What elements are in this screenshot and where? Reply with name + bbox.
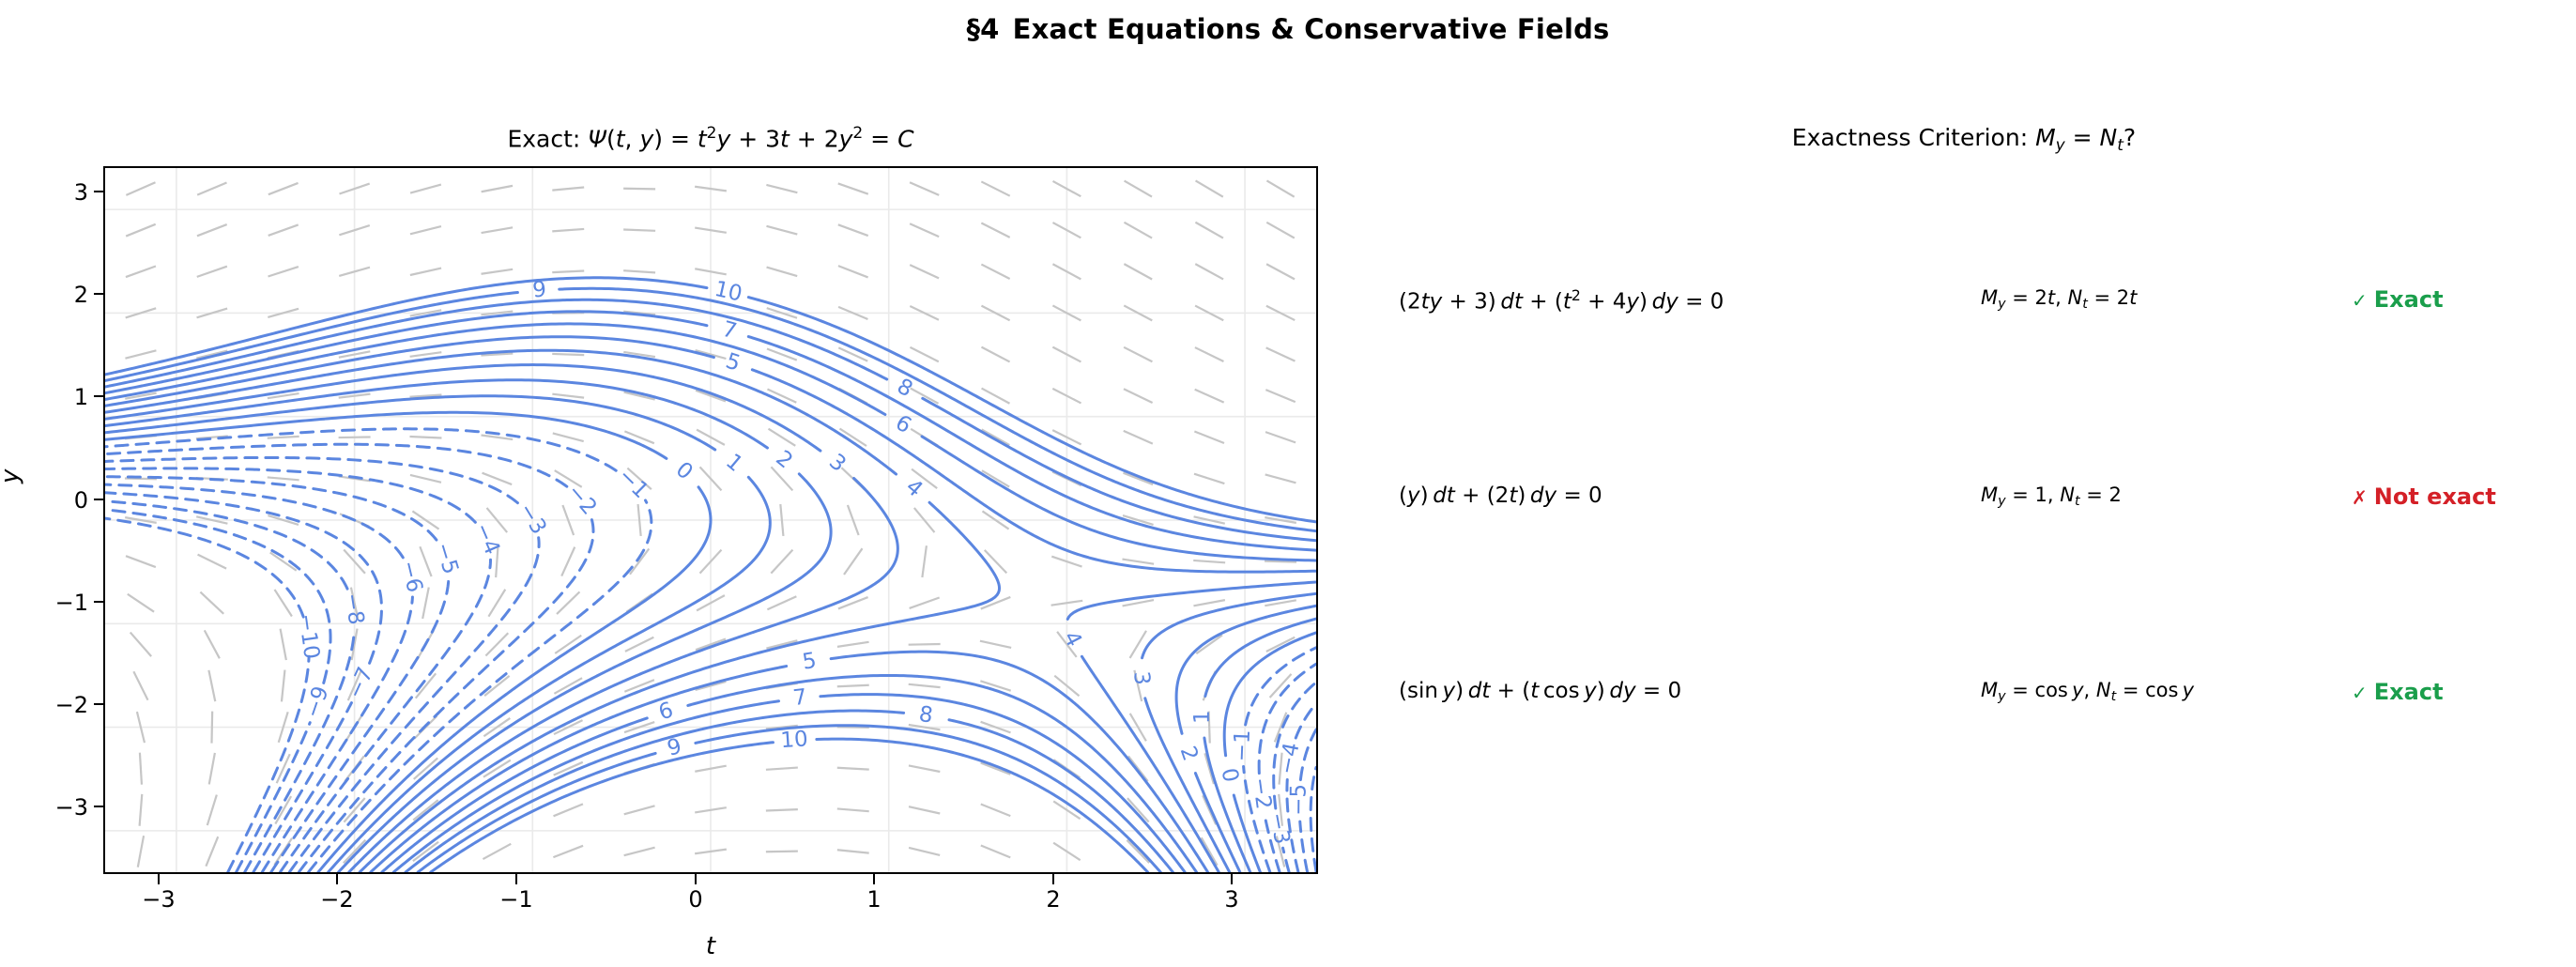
verdict-cell: ✓Exact bbox=[2352, 679, 2444, 705]
ytickmark-m3 bbox=[94, 806, 104, 807]
figure-canvas: §4Exact Equations & Conservative Fields … bbox=[0, 0, 2576, 967]
svg-text:−3: −3 bbox=[514, 499, 551, 538]
check-icon: ✓ bbox=[2352, 682, 2368, 704]
equation-cell: (2ty + 3) dt + (t2 + 4y) dy = 0 bbox=[1399, 286, 1724, 315]
xtick-m3: −3 bbox=[130, 886, 187, 913]
svg-text:7: 7 bbox=[791, 685, 807, 711]
svg-text:−8: −8 bbox=[339, 591, 368, 626]
xtickmark-m1 bbox=[515, 874, 517, 884]
svg-text:10: 10 bbox=[780, 727, 809, 753]
svg-text:−2: −2 bbox=[1248, 776, 1276, 811]
ytickmark-1 bbox=[94, 395, 104, 397]
contour-svg: −10−9−8−7−6−5−5−4−4−3−3−2−2−1−1001122334… bbox=[105, 168, 1316, 872]
criterion-cell: My = cos y, Nt = cos y bbox=[1981, 679, 2194, 704]
verdict-label: Exact bbox=[2374, 679, 2444, 705]
xtick-3: 3 bbox=[1204, 886, 1260, 913]
svg-text:1: 1 bbox=[721, 450, 747, 477]
xtick-0: 0 bbox=[667, 886, 724, 913]
y-axis-label: y bbox=[0, 469, 24, 483]
ytickmark-2 bbox=[94, 293, 104, 295]
xtickmark-m3 bbox=[158, 874, 160, 884]
verdict-label: Not exact bbox=[2374, 483, 2496, 510]
svg-text:−4: −4 bbox=[469, 519, 504, 558]
ytick-2: 2 bbox=[54, 282, 88, 308]
svg-text:8: 8 bbox=[893, 375, 916, 403]
ytickmark-m2 bbox=[94, 703, 104, 705]
xtickmark-m2 bbox=[336, 874, 338, 884]
verdict-cell: ✗Not exact bbox=[2352, 483, 2496, 510]
page-title: §4Exact Equations & Conservative Fields bbox=[0, 13, 2576, 45]
xtick-m1: −1 bbox=[488, 886, 544, 913]
svg-text:−5: −5 bbox=[1286, 784, 1311, 816]
ytickmark-m1 bbox=[94, 601, 104, 603]
equation-cell: (sin y) dt + (t cos y) dy = 0 bbox=[1399, 679, 1681, 703]
svg-text:4: 4 bbox=[1058, 627, 1086, 651]
svg-text:−2: −2 bbox=[562, 480, 602, 520]
svg-text:−1: −1 bbox=[613, 464, 652, 503]
svg-text:8: 8 bbox=[917, 702, 934, 729]
svg-text:9: 9 bbox=[531, 277, 547, 302]
svg-text:9: 9 bbox=[665, 734, 684, 761]
svg-text:−4: −4 bbox=[1275, 741, 1305, 776]
svg-text:6: 6 bbox=[656, 698, 677, 725]
xtick-2: 2 bbox=[1025, 886, 1081, 913]
svg-text:5: 5 bbox=[723, 349, 744, 376]
ytick-3: 3 bbox=[54, 179, 88, 206]
ytick-0: 0 bbox=[54, 487, 88, 514]
ytick-m2: −2 bbox=[41, 692, 88, 718]
check-icon: ✓ bbox=[2352, 289, 2368, 312]
ytickmark-0 bbox=[94, 499, 104, 500]
svg-text:−3: −3 bbox=[1265, 810, 1295, 846]
xtickmark-0 bbox=[695, 874, 697, 884]
section-title: Exact Equations & Conservative Fields bbox=[1013, 13, 1610, 45]
contour-plot-area: −10−9−8−7−6−5−5−4−4−3−3−2−2−1−1001122334… bbox=[103, 166, 1318, 874]
exactness-panel-title: Exactness Criterion: My = Nt? bbox=[1352, 124, 2576, 155]
svg-text:2: 2 bbox=[1175, 744, 1203, 764]
contour-labels: −10−9−8−7−6−5−5−4−4−3−3−2−2−1−1001122334… bbox=[293, 277, 1311, 846]
verdict-cell: ✓Exact bbox=[2352, 286, 2444, 313]
contour-plot-panel: Exact: Ψ(t, y) = t2y + 3t + 2y2 = C −10−… bbox=[0, 56, 1352, 967]
svg-text:7: 7 bbox=[720, 317, 740, 345]
svg-text:6: 6 bbox=[891, 410, 915, 438]
contour-plot-title: Exact: Ψ(t, y) = t2y + 3t + 2y2 = C bbox=[103, 124, 1318, 152]
equation-cell: (y) dt + (2t) dy = 0 bbox=[1399, 483, 1602, 508]
cross-icon: ✗ bbox=[2352, 486, 2368, 509]
xtickmark-1 bbox=[873, 874, 875, 884]
svg-text:3: 3 bbox=[1128, 670, 1154, 686]
svg-text:0: 0 bbox=[1216, 766, 1242, 785]
svg-text:−6: −6 bbox=[396, 559, 427, 595]
criterion-cell: My = 1, Nt = 2 bbox=[1981, 483, 2122, 509]
exactness-criterion-panel: Exactness Criterion: My = Nt? (2ty + 3) … bbox=[1352, 56, 2576, 967]
xtickmark-3 bbox=[1231, 874, 1233, 884]
x-axis-label: t bbox=[103, 932, 1318, 960]
svg-text:−5: −5 bbox=[430, 540, 463, 577]
svg-text:1: 1 bbox=[1190, 710, 1215, 724]
svg-text:0: 0 bbox=[671, 457, 698, 484]
svg-text:5: 5 bbox=[801, 649, 819, 675]
ytick-m1: −1 bbox=[41, 590, 88, 616]
criterion-cell: My = 2t, Nt = 2t bbox=[1981, 286, 2137, 312]
section-number: §4 bbox=[966, 13, 999, 45]
xtick-1: 1 bbox=[846, 886, 902, 913]
svg-text:−1: −1 bbox=[1230, 729, 1255, 762]
ytickmark-3 bbox=[94, 191, 104, 192]
svg-text:2: 2 bbox=[771, 446, 797, 473]
xtickmark-2 bbox=[1052, 874, 1054, 884]
ytick-m3: −3 bbox=[41, 794, 88, 821]
svg-text:−10: −10 bbox=[293, 612, 323, 661]
verdict-label: Exact bbox=[2374, 286, 2444, 313]
xtick-m2: −2 bbox=[309, 886, 365, 913]
ytick-1: 1 bbox=[54, 384, 88, 410]
